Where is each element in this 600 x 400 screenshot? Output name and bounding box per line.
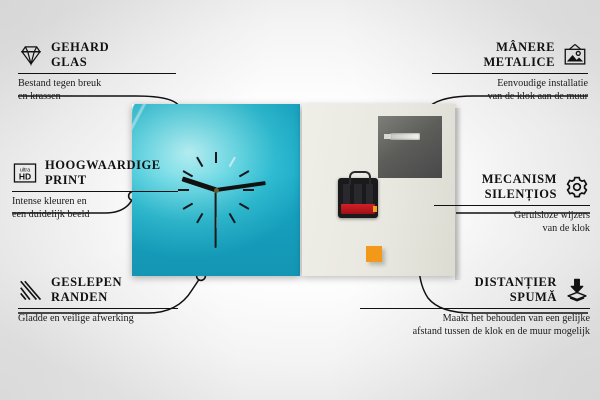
callout-title-line1: DISTANȚIER (475, 275, 557, 289)
gear-icon (564, 174, 590, 200)
arrow-layers-icon (564, 277, 590, 303)
callout-title-line2: GLAS (51, 55, 87, 69)
callout-distantier-spuma: DISTANȚIER SPUMĂ Maakt het behouden van … (358, 275, 590, 339)
callout-rule (18, 308, 178, 309)
callout-desc-line1: Gladde en veilige afwerking (18, 313, 134, 324)
callout-desc-line1: Bestand tegen breuk (18, 78, 101, 89)
callout-desc-line2: afstand tussen de klok en de muur mogeli… (413, 326, 590, 337)
callout-title-line2: SPUMĂ (510, 290, 557, 304)
callout-rule (432, 73, 588, 74)
diagonal-lines-icon (18, 277, 44, 303)
svg-text:HD: HD (19, 172, 31, 182)
callout-desc-line1: Eenvoudige installatie (497, 78, 588, 89)
ultra-hd-icon: ultra HD (12, 160, 38, 186)
diamond-icon (18, 42, 44, 68)
callout-title-line2: METALICE (483, 55, 555, 69)
clock-minute-hand (216, 181, 266, 192)
callout-gehard-glas: GEHARD GLAS Bestand tegen breuk en krass… (18, 40, 178, 104)
clock-center-pin (214, 188, 219, 193)
callout-rule (12, 191, 178, 192)
callout-rule (434, 205, 590, 206)
callout-desc-line1: Intense kleuren en (12, 196, 87, 207)
picture-frame-icon (562, 42, 588, 68)
callout-desc-line2: van de klok (542, 223, 590, 234)
callout-desc-line1: Geruisloze wijzers (514, 210, 590, 221)
callout-hoogwaardige-print: ultra HD HOOGWAARDIGE PRINT Intense kleu… (12, 158, 180, 222)
clock-second-hand (215, 190, 217, 248)
clock-mechanism (338, 178, 378, 218)
clock-hour-hand (181, 176, 217, 192)
foam-spacer (366, 246, 382, 262)
callout-desc-line1: Maakt het behouden van een gelijke (443, 313, 590, 324)
callout-rule (360, 308, 590, 309)
callout-desc-line2: van de klok aan de muur (488, 91, 588, 102)
callout-title-line1: GESLEPEN (51, 275, 122, 289)
callout-title-line2: PRINT (45, 173, 87, 187)
callout-title-line1: MECANISM (482, 172, 557, 186)
callout-rule (18, 73, 176, 74)
infographic-canvas: GEHARD GLAS Bestand tegen breuk en krass… (0, 0, 600, 400)
product-image (132, 104, 456, 276)
callout-desc-line2: een duidelijk beeld (12, 209, 90, 220)
metal-hanger (378, 116, 442, 178)
callout-manere-metalice: MÂNERE METALICE Eenvoudige installatie v… (430, 40, 588, 104)
callout-title-line1: MÂNERE (496, 40, 555, 54)
callout-desc-line2: en krassen (18, 91, 61, 102)
callout-title-line1: GEHARD (51, 40, 109, 54)
callout-title-line2: SILENȚIOS (485, 187, 557, 201)
callout-title-line1: HOOGWAARDIGE (45, 158, 161, 172)
callout-geslepen-randen: GESLEPEN RANDEN Gladde en veilige afwerk… (18, 275, 180, 326)
callout-title-line2: RANDEN (51, 290, 108, 304)
callout-mecanism-silentios: MECANISM SILENȚIOS Geruisloze wijzers va… (432, 172, 590, 236)
